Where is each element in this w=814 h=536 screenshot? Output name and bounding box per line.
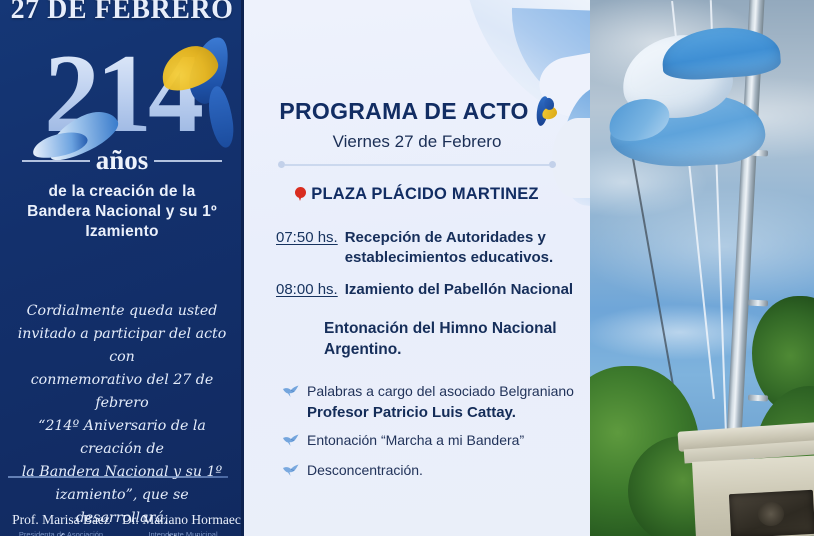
anthem-line-1: Entonación del Himno Nacional	[324, 318, 578, 339]
program-panel: PROGRAMA DE ACTO Viernes 27 de Febrero P…	[244, 0, 590, 536]
dove-bullet-icon	[282, 433, 300, 452]
signatory-name: Dr. Mariano Hormaechea	[122, 512, 244, 528]
decorative-divider	[278, 161, 556, 168]
divider-line	[285, 164, 549, 166]
invitation-line-5: la Bandera Nacional y su 1º	[8, 461, 236, 484]
invitation-line-1: Cordialmente queda usted	[8, 300, 236, 323]
bullet-content: Entonación “Marcha a mi Bandera”	[307, 431, 524, 450]
venue-name: PLAZA PLÁCIDO MARTINEZ	[311, 185, 538, 204]
monument-plaque	[729, 490, 814, 536]
invitation-line-2: invitado a participar del acto con	[8, 323, 236, 369]
event-date-header: 27 DE FEBRERO	[0, 0, 244, 26]
venue-row: PLAZA PLÁCIDO MARTINEZ	[256, 185, 578, 204]
bullet-text: Entonación “Marcha a mi Bandera”	[307, 432, 524, 448]
years-row: años	[0, 145, 244, 176]
laurel-ribbon-emblem-icon	[529, 96, 555, 126]
signature-item: Prof. Marisa Báez Presidenta de Asociaci…	[0, 512, 122, 536]
signature-block: Prof. Marisa Báez Presidenta de Asociaci…	[0, 512, 244, 536]
schedule-list: 07:50 hs. Recepción de Autoridades y est…	[256, 228, 578, 300]
signatory-role: Intendente Municipal	[122, 530, 244, 536]
bullet-content: Desconcentración.	[307, 461, 423, 480]
schedule-time: 08:00 hs.	[276, 280, 338, 300]
signature-divider	[8, 476, 228, 478]
subtitle-line-1: de la creación de la	[8, 182, 236, 202]
dove-bullet-icon	[282, 463, 300, 482]
location-pin-icon	[295, 187, 306, 202]
invitation-panel: 27 DE FEBRERO 214 años de la creación de…	[0, 0, 244, 536]
pole-band	[748, 394, 768, 401]
bullet-strong-text: Profesor Patricio Luis Cattay.	[307, 403, 574, 422]
monument-base	[682, 426, 814, 536]
program-title-row: PROGRAMA DE ACTO	[256, 96, 578, 126]
schedule-description-line-1: Izamiento del Pabellón Nacional	[345, 281, 573, 298]
program-date: Viernes 27 de Febrero	[256, 132, 578, 152]
signature-item: Dr. Mariano Hormaechea Intendente Munici…	[122, 512, 244, 536]
schedule-item: 07:50 hs. Recepción de Autoridades y est…	[276, 228, 578, 268]
list-item: Entonación “Marcha a mi Bandera”	[282, 431, 578, 452]
anthem-block: Entonación del Himno Nacional Argentino.	[324, 318, 578, 360]
schedule-description-line-2: establecimientos educativos.	[345, 249, 553, 266]
signatory-role: Presidenta de Asociación	[0, 530, 122, 536]
subtitle-line-2: Bandera Nacional y su 1º	[8, 202, 236, 222]
schedule-time: 07:50 hs.	[276, 228, 338, 268]
program-content: PROGRAMA DE ACTO Viernes 27 de Febrero P…	[244, 96, 590, 482]
program-title: PROGRAMA DE ACTO	[279, 98, 528, 125]
program-bullet-list: Palabras a cargo del asociado Belgranian…	[256, 382, 578, 482]
subtitle-line-3: Izamiento	[8, 222, 236, 242]
schedule-description: Recepción de Autoridades y establecimien…	[345, 228, 553, 268]
anniversary-number: 214	[0, 34, 244, 154]
years-label: años	[96, 145, 149, 176]
years-rule-left	[22, 160, 90, 162]
divider-dot-right	[549, 161, 556, 168]
bullet-text: Palabras a cargo del asociado Belgranian…	[307, 383, 574, 399]
invitation-line-4: “214º Aniversario de la creación de	[8, 415, 236, 461]
bullet-text: Desconcentración.	[307, 462, 423, 478]
schedule-description: Izamiento del Pabellón Nacional	[345, 280, 573, 300]
divider-dot-left	[278, 161, 285, 168]
list-item: Desconcentración.	[282, 461, 578, 482]
flag-photo	[590, 0, 814, 536]
dove-bullet-icon	[282, 384, 300, 403]
pole-band	[748, 299, 768, 306]
anniversary-subtitle: de la creación de la Bandera Nacional y …	[0, 182, 244, 242]
invitation-line-3: conmemorativo del 27 de febrero	[8, 369, 236, 415]
signatory-name: Prof. Marisa Báez	[0, 512, 122, 528]
schedule-item: 08:00 hs. Izamiento del Pabellón Naciona…	[276, 280, 578, 300]
anthem-line-2: Argentino.	[324, 339, 578, 360]
invitation-flyer: 27 DE FEBRERO 214 años de la creación de…	[0, 0, 814, 536]
invitation-text: Cordialmente queda usted invitado a part…	[0, 300, 244, 536]
bullet-content: Palabras a cargo del asociado Belgranian…	[307, 382, 574, 422]
years-rule-right	[154, 160, 222, 162]
schedule-description-line-1: Recepción de Autoridades y	[345, 229, 546, 246]
list-item: Palabras a cargo del asociado Belgranian…	[282, 382, 578, 422]
